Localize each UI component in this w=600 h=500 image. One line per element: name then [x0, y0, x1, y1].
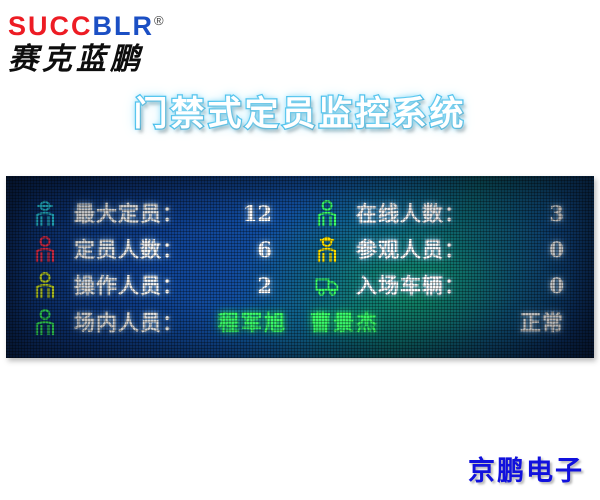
person-icon — [32, 235, 58, 263]
led-display-panel: 最大定员： 12 在线人数： 3 — [6, 176, 594, 358]
brand-chinese-name: 赛克蓝鹏 — [8, 42, 238, 78]
led-value: 0 — [549, 273, 564, 298]
led-content: 最大定员： 12 在线人数： 3 — [6, 176, 594, 358]
brand-wordmark: SUCCBLR® — [8, 6, 238, 41]
led-label: 操作人员： — [74, 270, 184, 300]
person-icon — [32, 308, 58, 336]
brand-wordmark-red: SUCC — [8, 11, 93, 41]
led-row-onsite-personnel: 场内人员： 程军旭 曹景杰 正常 — [6, 303, 594, 341]
person-with-hat-icon — [32, 199, 58, 227]
led-value: 6 — [257, 237, 272, 262]
brand-wordmark-blue: BLR — [93, 11, 155, 41]
led-value: 0 — [549, 237, 564, 262]
led-label: 场内人员： — [74, 307, 184, 337]
footer-company-logo: 京鹏电子 — [468, 449, 584, 488]
led-value: 3 — [549, 201, 564, 226]
led-label: 定员人数： — [74, 234, 184, 264]
led-stat-max-capacity: 最大定员： 12 — [6, 198, 300, 228]
led-row: 最大定员： 12 在线人数： 3 — [6, 195, 594, 231]
led-label: 参观人员： — [356, 234, 466, 264]
led-row: 操作人员： 2 入场车辆： 0 — [6, 267, 594, 303]
led-label: 在线人数： — [356, 198, 466, 228]
truck-icon — [314, 271, 340, 299]
visitor-person-icon — [314, 235, 340, 263]
led-row: 定员人数： 6 参观人员： 0 — [6, 231, 594, 267]
led-value: 2 — [257, 273, 272, 298]
page-title: 门禁式定员监控系统 — [0, 92, 600, 136]
led-stat-online-count: 在线人数： 3 — [300, 198, 594, 228]
person-icon — [314, 199, 340, 227]
registered-trademark-icon: ® — [154, 13, 164, 28]
led-stat-registered-count: 定员人数： 6 — [6, 234, 300, 264]
led-label: 入场车辆： — [356, 270, 466, 300]
person-icon — [32, 271, 58, 299]
led-stat-operator-count: 操作人员： 2 — [6, 270, 300, 300]
led-onsite-label-group: 场内人员： — [6, 307, 184, 337]
led-onsite-names: 程军旭 曹景杰 — [218, 307, 379, 337]
status-badge: 正常 — [520, 307, 564, 337]
led-label: 最大定员： — [74, 198, 184, 228]
led-stat-visitor-count: 参观人员： 0 — [300, 234, 594, 264]
led-value: 12 — [243, 201, 272, 226]
led-stat-vehicle-count: 入场车辆： 0 — [300, 270, 594, 300]
brand-logo: SUCCBLR® 赛克蓝鹏 — [8, 6, 238, 76]
